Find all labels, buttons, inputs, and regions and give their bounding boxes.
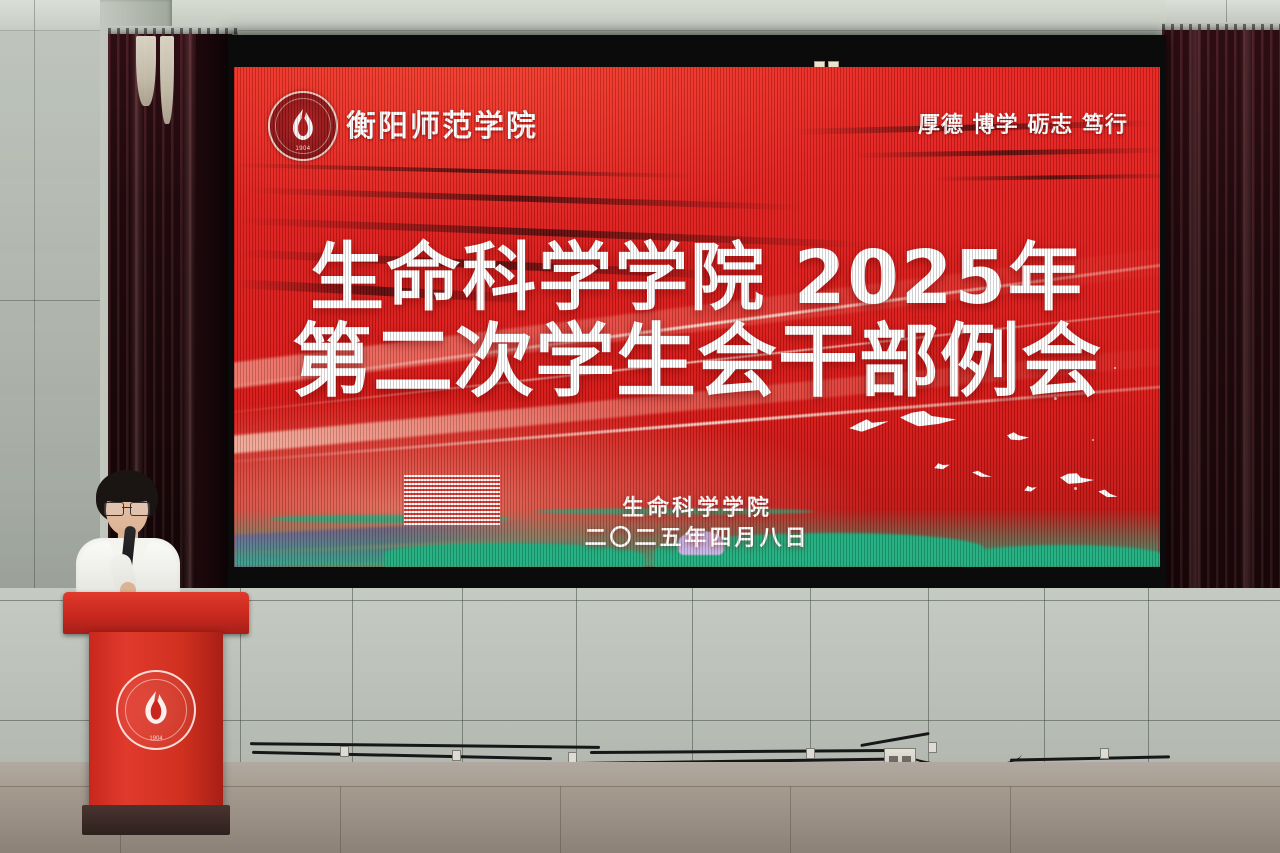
led-screen-bezel: 1904 衡阳师范学院 厚德 博学 砺志 笃行 生命科学学院 2025年 第二次… [228, 35, 1166, 588]
emblem-year: 1904 [270, 146, 336, 152]
glasses-bridge [122, 507, 132, 508]
cable-clip [928, 742, 937, 753]
event-date: 二〇二五年四月八日 [234, 524, 1160, 554]
event-title: 生命科学学院 2025年 第二次学生会干部例会 [234, 239, 1160, 405]
cable-clip [806, 748, 815, 759]
university-motto: 厚德 博学 砺志 笃行 [918, 107, 1128, 139]
floor-seam [790, 786, 791, 853]
cable-clip [1100, 748, 1109, 759]
auditorium-scene: 1904 衡阳师范学院 厚德 博学 砺志 笃行 生命科学学院 2025年 第二次… [0, 0, 1280, 853]
glasses-icon [104, 502, 150, 514]
wall-seam [692, 588, 693, 770]
floor-seam [1010, 786, 1011, 853]
led-display: 1904 衡阳师范学院 厚德 博学 砺志 笃行 生命科学学院 2025年 第二次… [234, 67, 1160, 567]
event-title-line-1: 生命科学学院 2025年 [234, 239, 1160, 319]
wall-seam [576, 588, 577, 770]
wall-seam [810, 588, 811, 770]
speaker-person [70, 470, 190, 600]
flame-icon [288, 108, 318, 142]
wall-seam-left [0, 300, 100, 301]
podium-university-emblem-icon: 1904 [116, 670, 196, 750]
glasses-lens-left [104, 502, 124, 516]
event-subtitle: 生命科学学院 二〇二五年四月八日 [234, 494, 1160, 553]
floor-seam [560, 786, 561, 853]
event-organizer: 生命科学学院 [234, 494, 1160, 524]
wall-seam [462, 588, 463, 770]
podium-top [63, 592, 249, 634]
speaker-hair-fringe [98, 476, 156, 502]
wall-seam [1148, 588, 1149, 770]
glasses-lens-right [130, 502, 150, 516]
backdrop-spark [1074, 487, 1077, 490]
university-emblem-icon: 1904 [268, 91, 338, 161]
emblem-year: 1904 [118, 736, 194, 742]
flame-icon [140, 690, 172, 726]
cable-clip [340, 746, 349, 757]
event-title-line-2: 第二次学生会干部例会 [234, 319, 1160, 405]
wall-seam [1044, 588, 1045, 770]
screen-side-shadow-left [196, 34, 228, 590]
floor-seam [340, 786, 341, 853]
podium-base [82, 805, 230, 835]
backdrop-spark [1092, 439, 1094, 441]
cable-clip [452, 750, 461, 761]
university-name: 衡阳师范学院 [346, 101, 538, 145]
podium-body: 1904 [89, 632, 223, 808]
screen-header: 1904 衡阳师范学院 厚德 博学 砺志 笃行 [234, 67, 1160, 162]
